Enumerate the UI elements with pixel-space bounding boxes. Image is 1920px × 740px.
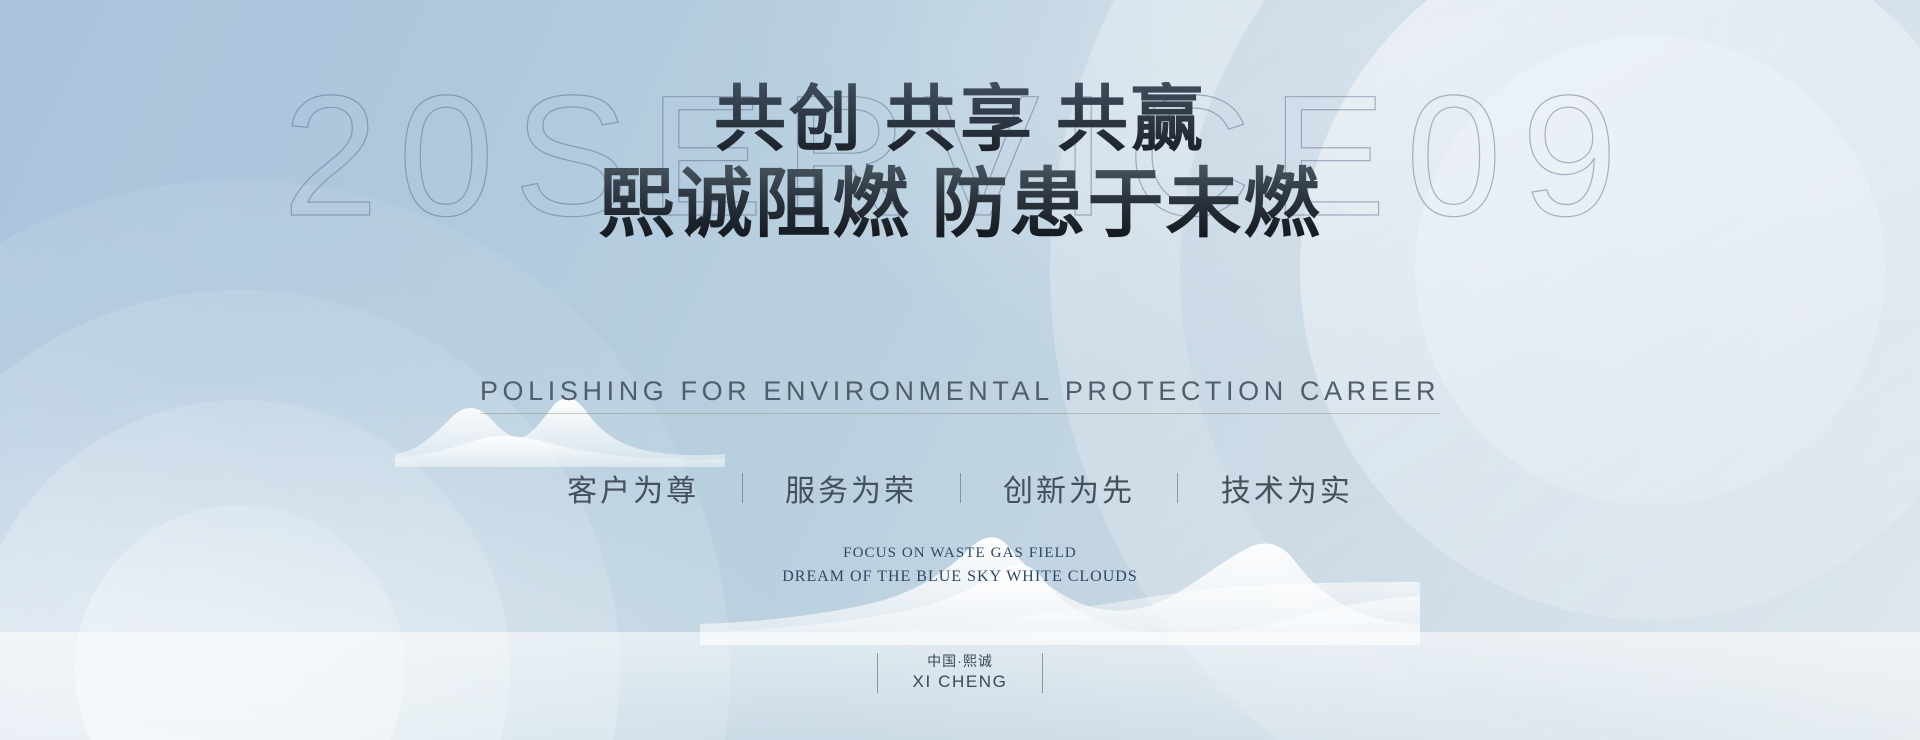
brand-badge: 中国·熙诚 XI CHENG xyxy=(0,652,1920,694)
tagline-wrapper: POLISHING FOR ENVIRONMENTAL PROTECTION C… xyxy=(0,376,1920,414)
value-separator-2 xyxy=(960,473,961,503)
ring-inner xyxy=(75,505,405,740)
serif-subtitle-block: FOCUS ON WASTE GAS FIELD DREAM OF THE BL… xyxy=(0,543,1920,588)
value-phrase-row: 客户为尊 服务为荣 创新为先 技术为实 xyxy=(0,466,1920,510)
english-tagline: POLISHING FOR ENVIRONMENTAL PROTECTION C… xyxy=(480,376,1440,414)
value-phrase-2: 服务为荣 xyxy=(785,466,917,510)
value-separator-1 xyxy=(742,473,743,503)
badge-name-en: XI CHENG xyxy=(913,671,1008,694)
badge-name-cn: 中国·熙诚 xyxy=(913,652,1008,671)
value-phrase-1: 客户为尊 xyxy=(567,466,699,510)
serif-subtitle-line-1: FOCUS ON WASTE GAS FIELD xyxy=(0,543,1920,565)
badge-bar-right xyxy=(1042,653,1043,693)
badge-bar-left xyxy=(877,653,878,693)
value-phrase-3: 创新为先 xyxy=(1003,466,1135,510)
serif-subtitle-line-2: DREAM OF THE BLUE SKY WHITE CLOUDS xyxy=(0,565,1920,588)
headline-line-2: 熙诚阻燃 防患于未燃 xyxy=(0,164,1920,246)
value-phrase-4: 技术为实 xyxy=(1221,466,1353,510)
headline-line-1: 共创 共享 共赢 xyxy=(0,82,1920,160)
badge-text: 中国·熙诚 XI CHENG xyxy=(913,652,1008,694)
promotional-banner: 20SERVICE09 共创 共享 共赢 熙诚阻燃 防患于未燃 POLISHIN… xyxy=(0,0,1920,740)
value-separator-3 xyxy=(1177,473,1178,503)
headline-block: 共创 共享 共赢 熙诚阻燃 防患于未燃 xyxy=(0,82,1920,246)
